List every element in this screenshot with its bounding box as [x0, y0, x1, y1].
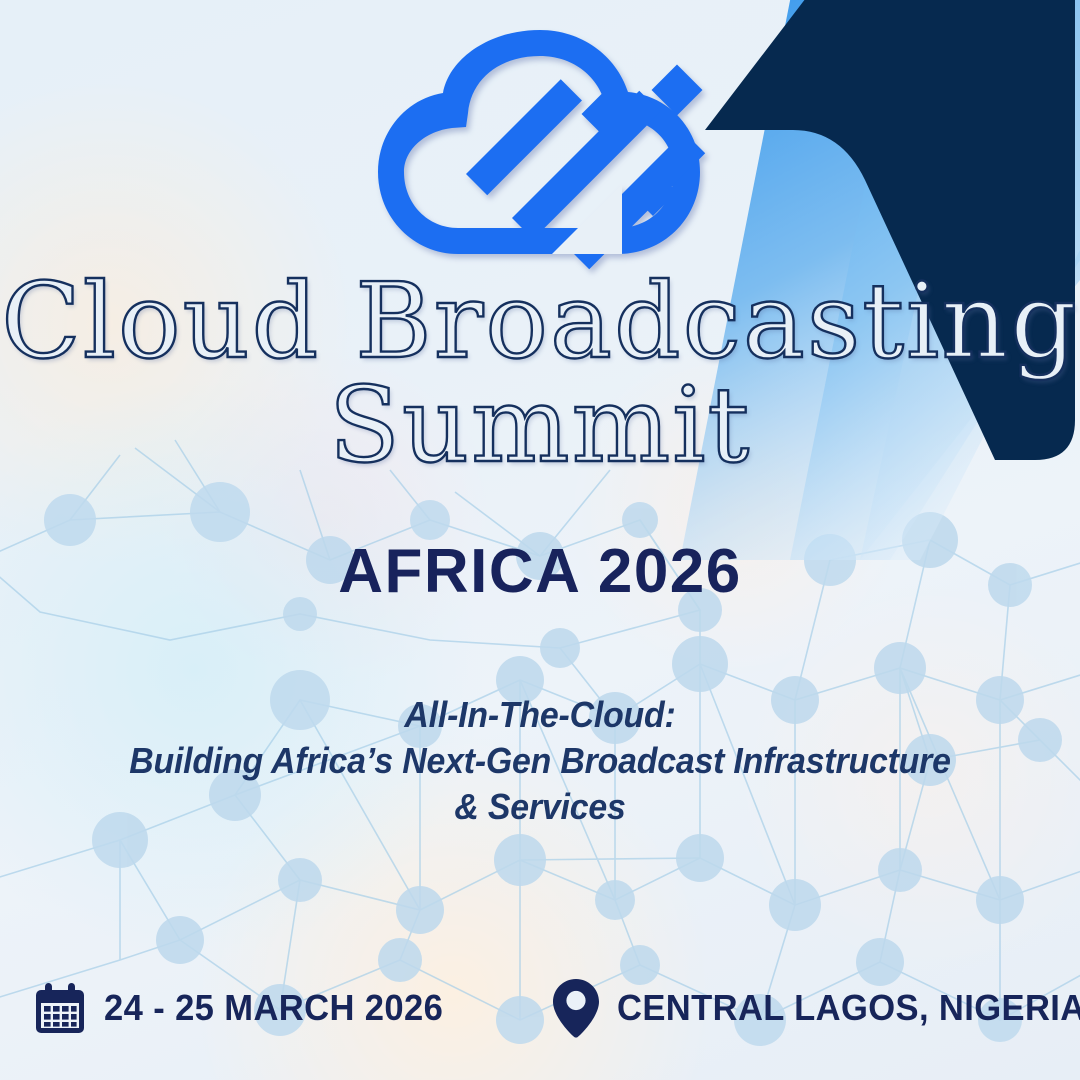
event-date-text: 24 - 25 MARCH 2026 — [104, 987, 443, 1029]
poster-footer: 24 - 25 MARCH 2026 CENTRAL LAGOS, NIGERI… — [0, 978, 1080, 1038]
event-poster: Cloud Broadcasting Summit AFRICA 2026 Al… — [0, 0, 1080, 1080]
title-line-1: Cloud Broadcasting — [0, 272, 1080, 372]
event-date: 24 - 25 MARCH 2026 — [34, 981, 457, 1035]
location-pin-icon — [553, 978, 599, 1038]
tagline-line-1: All-In-The-Cloud: — [32, 692, 1047, 738]
event-location-text: CENTRAL LAGOS, NIGERIA — [617, 987, 1080, 1029]
poster-title: Cloud Broadcasting Summit — [0, 272, 1080, 476]
cloud-broadcast-logo — [370, 22, 710, 278]
tagline-line-3: & Services — [32, 784, 1047, 830]
poster-subtitle: AFRICA 2026 — [0, 536, 1080, 607]
poster-tagline: All-In-The-Cloud: Building Africa’s Next… — [32, 692, 1047, 830]
calendar-icon — [34, 981, 86, 1035]
title-line-2: Summit — [0, 376, 1080, 476]
tagline-line-2: Building Africa’s Next-Gen Broadcast Inf… — [32, 738, 1047, 784]
event-location: CENTRAL LAGOS, NIGERIA — [553, 978, 1080, 1038]
